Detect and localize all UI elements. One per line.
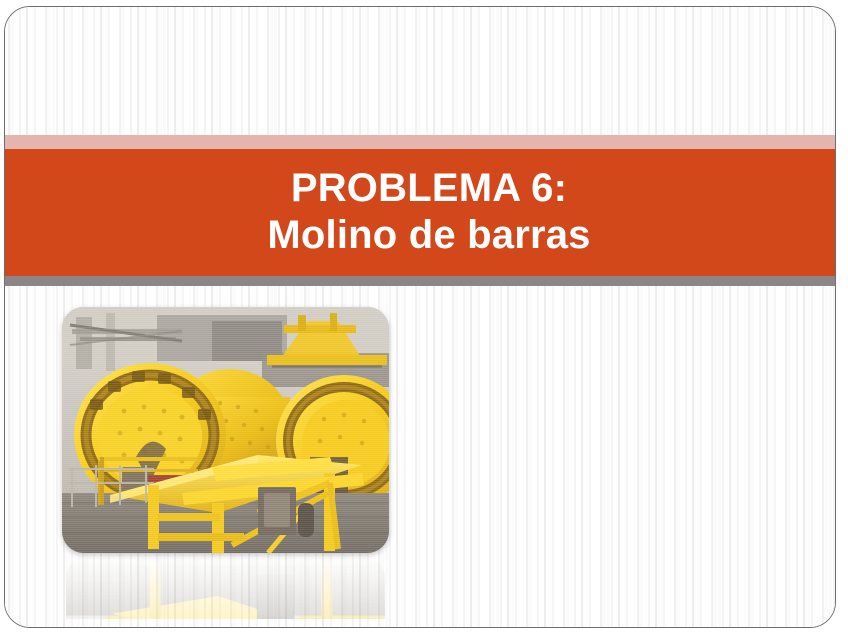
- slide-root: PROBLEMA 6: Molino de barras: [0, 0, 848, 636]
- banner-gray-strip: [5, 276, 836, 286]
- photo-block: [62, 307, 389, 553]
- title-banner: PROBLEMA 6: Molino de barras: [5, 129, 836, 286]
- slide-frame: PROBLEMA 6: Molino de barras: [4, 6, 836, 628]
- title-text-block: PROBLEMA 6: Molino de barras: [5, 149, 836, 276]
- banner-accent-pink-strip: [5, 135, 836, 149]
- slide-title-line-1: PROBLEMA 6:: [291, 166, 567, 211]
- rod-mill-photo: [62, 307, 389, 553]
- rod-mill-photo-graphic: [62, 307, 389, 553]
- slide-title-line-2: Molino de barras: [267, 211, 590, 259]
